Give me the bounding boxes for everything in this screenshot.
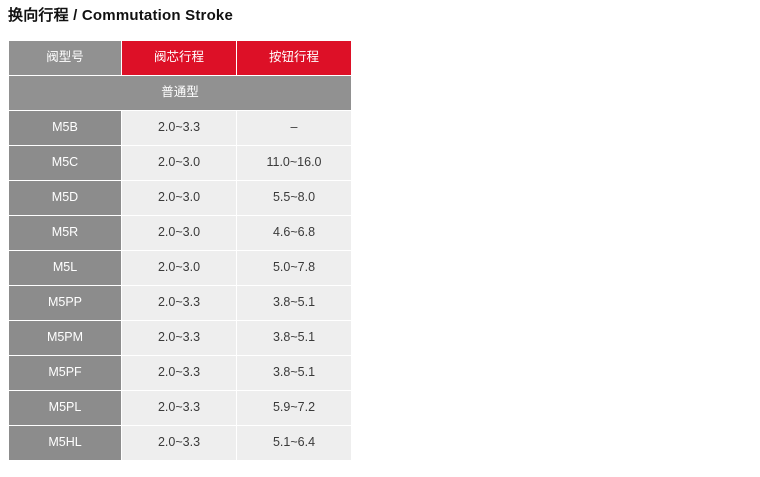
cell-button-stroke: 3.8~5.1 <box>237 321 351 355</box>
cell-spool-stroke: 2.0~3.3 <box>122 356 236 390</box>
cell-button-stroke: 5.9~7.2 <box>237 391 351 425</box>
cell-button-stroke: 5.0~7.8 <box>237 251 351 285</box>
cell-spool-stroke: 2.0~3.0 <box>122 146 236 180</box>
column-header-button-stroke: 按钮行程 <box>237 41 351 75</box>
table-row: M5B 2.0~3.3 – <box>9 111 351 145</box>
column-header-spool-stroke: 阀芯行程 <box>122 41 236 75</box>
cell-spool-stroke: 2.0~3.3 <box>122 391 236 425</box>
table-row: M5PP 2.0~3.3 3.8~5.1 <box>9 286 351 320</box>
page-title: 换向行程 / Commutation Stroke <box>8 4 233 25</box>
cell-spool-stroke: 2.0~3.3 <box>122 426 236 460</box>
table-row: M5HL 2.0~3.3 5.1~6.4 <box>9 426 351 460</box>
cell-spool-stroke: 2.0~3.3 <box>122 286 236 320</box>
group-label-standard-type: 普通型 <box>9 76 351 110</box>
cell-model: M5D <box>9 181 121 215</box>
column-header-model: 阀型号 <box>9 41 121 75</box>
cell-model: M5R <box>9 216 121 250</box>
table-row: M5R 2.0~3.0 4.6~6.8 <box>9 216 351 250</box>
cell-spool-stroke: 2.0~3.3 <box>122 321 236 355</box>
cell-button-stroke: 5.1~6.4 <box>237 426 351 460</box>
table-row: M5PL 2.0~3.3 5.9~7.2 <box>9 391 351 425</box>
table-row: M5D 2.0~3.0 5.5~8.0 <box>9 181 351 215</box>
cell-button-stroke: – <box>237 111 351 145</box>
cell-button-stroke: 5.5~8.0 <box>237 181 351 215</box>
table-header-row: 阀型号 阀芯行程 按钮行程 <box>9 41 351 75</box>
cell-model: M5HL <box>9 426 121 460</box>
table-row: M5PF 2.0~3.3 3.8~5.1 <box>9 356 351 390</box>
cell-model: M5L <box>9 251 121 285</box>
cell-model: M5PM <box>9 321 121 355</box>
cell-spool-stroke: 2.0~3.0 <box>122 251 236 285</box>
cell-spool-stroke: 2.0~3.0 <box>122 216 236 250</box>
commutation-stroke-table: 阀型号 阀芯行程 按钮行程 普通型 M5B 2.0~3.3 – M5C 2.0~… <box>8 40 352 461</box>
cell-button-stroke: 4.6~6.8 <box>237 216 351 250</box>
cell-model: M5PF <box>9 356 121 390</box>
table-body: 阀型号 阀芯行程 按钮行程 普通型 M5B 2.0~3.3 – M5C 2.0~… <box>9 41 351 460</box>
cell-model: M5PP <box>9 286 121 320</box>
table-row: M5PM 2.0~3.3 3.8~5.1 <box>9 321 351 355</box>
table-group-row: 普通型 <box>9 76 351 110</box>
cell-button-stroke: 3.8~5.1 <box>237 356 351 390</box>
cell-button-stroke: 11.0~16.0 <box>237 146 351 180</box>
cell-spool-stroke: 2.0~3.0 <box>122 181 236 215</box>
cell-model: M5B <box>9 111 121 145</box>
table-row: M5L 2.0~3.0 5.0~7.8 <box>9 251 351 285</box>
table-row: M5C 2.0~3.0 11.0~16.0 <box>9 146 351 180</box>
cell-button-stroke: 3.8~5.1 <box>237 286 351 320</box>
cell-model: M5C <box>9 146 121 180</box>
cell-model: M5PL <box>9 391 121 425</box>
cell-spool-stroke: 2.0~3.3 <box>122 111 236 145</box>
